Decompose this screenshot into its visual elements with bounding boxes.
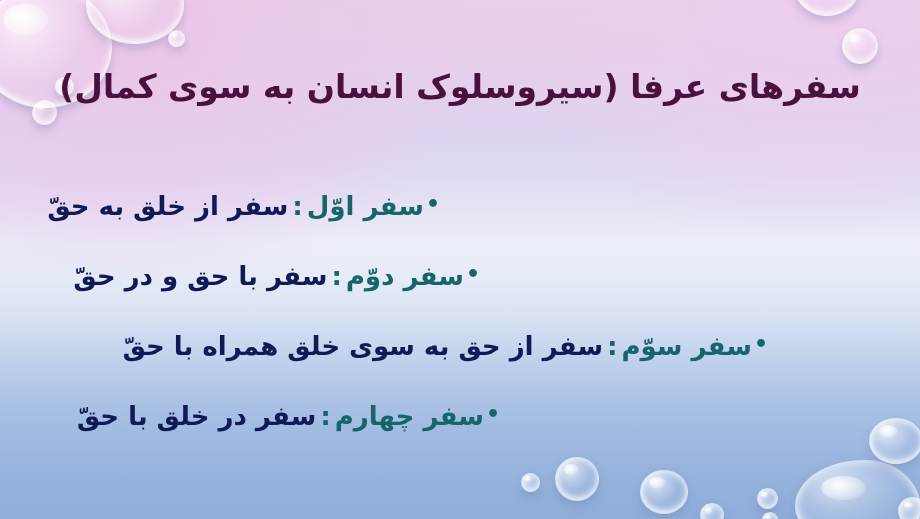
bullet-item-second-journey: • سفر دوّم : سفر با حق و در حقّ — [30, 242, 890, 312]
bubble-decoration-right-edge — [898, 497, 920, 519]
bullet-marker-icon: • — [466, 264, 480, 286]
bullet-item-fourth-journey: • سفر چهارم : سفر در خلق با حقّ — [30, 382, 890, 452]
bubble-decoration-bottom-small — [521, 473, 540, 492]
bullet-label: سفر چهارم — [335, 382, 484, 452]
droplet-decoration-bottom-right-large — [795, 460, 920, 519]
bullet-separator: : — [316, 382, 334, 452]
bubble-decoration-top-left-upper — [86, 0, 184, 44]
bubble-decoration-bottom-right-tiny — [762, 512, 778, 519]
bubble-decoration-top-right — [842, 28, 878, 64]
bullet-separator: : — [327, 242, 345, 312]
bubble-decoration-bottom-right-small — [757, 488, 778, 509]
bullet-label: سفر سوّم — [622, 312, 752, 382]
bullet-body: سفر از خلق به حقّ — [47, 172, 288, 242]
bullet-list: • سفر اوّل : سفر از خلق به حقّ • سفر دوّ… — [30, 172, 890, 452]
bubble-decoration-tiny-left — [168, 30, 185, 47]
bullet-separator: : — [288, 172, 306, 242]
bullet-item-third-journey: • سفر سوّم : سفر از حق به سوی خلق همراه … — [30, 312, 890, 382]
bubble-decoration-top-right-clipped — [793, 0, 861, 16]
bubble-decoration-bottom-medium — [555, 457, 599, 501]
slide-title: سفرهای عرفا (سیروسلوک انسان به سوی کمال) — [40, 68, 880, 106]
bullet-marker-icon: • — [486, 404, 500, 426]
bullet-body: سفر در خلق با حقّ — [77, 382, 316, 452]
bullet-body: سفر از حق به سوی خلق همراه با حقّ — [123, 312, 604, 382]
bullet-marker-icon: • — [754, 334, 768, 356]
bullet-item-first-journey: • سفر اوّل : سفر از خلق به حقّ — [30, 172, 890, 242]
presentation-slide: سفرهای عرفا (سیروسلوک انسان به سوی کمال)… — [0, 0, 920, 519]
bullet-separator: : — [603, 312, 621, 382]
bubble-decoration-bottom-wide — [640, 470, 688, 514]
bullet-marker-icon: • — [426, 194, 440, 216]
bubble-decoration-bottom-far-right — [700, 503, 724, 519]
bullet-label: سفر اوّل — [307, 172, 424, 242]
bullet-body: سفر با حق و در حقّ — [73, 242, 327, 312]
bullet-label: سفر دوّم — [346, 242, 464, 312]
